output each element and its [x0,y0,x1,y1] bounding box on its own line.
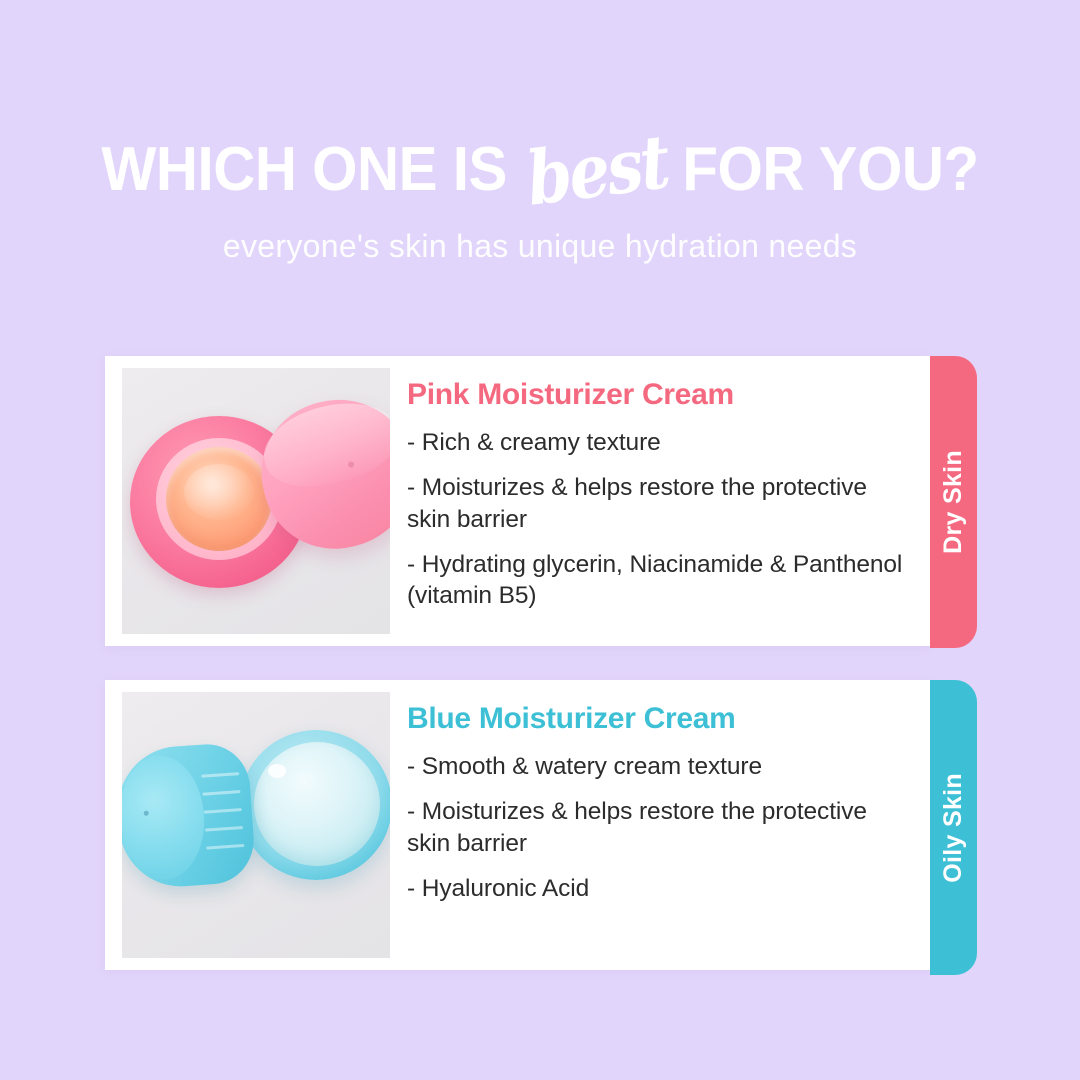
headline-script-word: best [523,125,671,217]
product-card-blue[interactable]: Blue Moisturizer Cream - Smooth & watery… [105,680,930,970]
list-item: - Rich & creamy texture [407,427,910,459]
list-item: - Smooth & watery cream texture [407,751,910,783]
page-title: WHICH ONE ISbestFOR YOU? [32,128,1047,202]
card-body-blue: Blue Moisturizer Cream - Smooth & watery… [390,680,930,914]
blue-lid-ridge [205,826,243,832]
blue-lid-ridge [204,808,242,814]
skin-type-tab-dry[interactable]: Dry Skin [930,356,977,648]
blue-lid-ridge [201,772,239,778]
product-image-pink [122,368,390,634]
list-item: - Hyaluronic Acid [407,873,910,905]
blue-lid-ridge [202,790,240,796]
skin-type-tab-oily[interactable]: Oily Skin [930,680,977,975]
list-item: - Moisturizes & helps restore the protec… [407,472,910,536]
product-card-pink[interactable]: Pink Moisturizer Cream - Rich & creamy t… [105,356,930,646]
headline-part1: WHICH ONE IS [101,139,507,201]
blue-jar-lid [122,741,257,890]
blue-lid-ridge [206,844,244,850]
pink-cream-highlight [184,464,254,520]
product-title-blue: Blue Moisturizer Cream [407,702,910,735]
headline-part2: FOR YOU? [682,139,978,201]
list-item: - Moisturizes & helps restore the protec… [407,796,910,860]
blue-lid-face [122,753,208,883]
product-image-blue [122,692,390,958]
blue-cream-bubble [268,764,286,778]
blue-jar-illustration [122,692,390,958]
header: WHICH ONE ISbestFOR YOU? everyone's skin… [0,128,1080,265]
pink-jar-illustration [122,368,390,634]
card-body-pink: Pink Moisturizer Cream - Rich & creamy t… [390,356,930,622]
feature-list-pink: - Rich & creamy texture - Moisturizes & … [407,427,910,612]
product-title-pink: Pink Moisturizer Cream [407,378,910,411]
skin-type-tab-label: Dry Skin [939,450,968,554]
poster-canvas: WHICH ONE ISbestFOR YOU? everyone's skin… [0,0,1080,1080]
blue-cream-surface [254,742,380,866]
skin-type-tab-label: Oily Skin [939,773,968,883]
page-subtitle: everyone's skin has unique hydration nee… [0,228,1080,265]
list-item: - Hydrating glycerin, Niacinamide & Pant… [407,549,910,613]
feature-list-blue: - Smooth & watery cream texture - Moistu… [407,751,910,904]
